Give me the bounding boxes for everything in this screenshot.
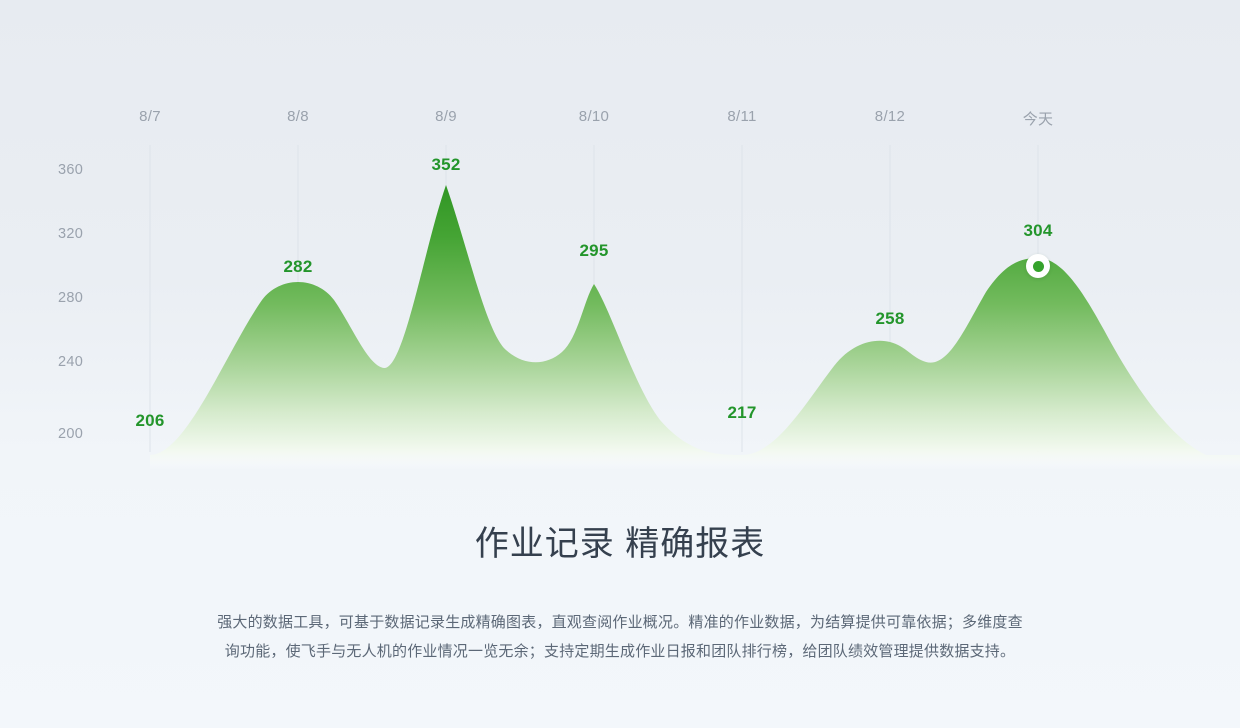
x-axis-label-4: 8/11 (727, 108, 756, 125)
x-axis-label-3: 8/10 (579, 108, 609, 125)
marketing-chart-page: 360 320 280 240 200 8/7 8/8 8/9 8/10 8/1… (0, 0, 1240, 728)
y-axis-tick-360: 360 (58, 162, 86, 178)
chart-canvas (0, 0, 1240, 470)
y-axis-tick-200: 200 (58, 426, 86, 442)
x-axis-label-2: 8/9 (435, 108, 457, 125)
data-label-3: 295 (580, 241, 609, 261)
page-title: 作业记录 精确报表 (0, 470, 1240, 566)
area-series-path (150, 185, 1240, 470)
data-label-4: 217 (728, 403, 757, 423)
y-axis-tick-320: 320 (58, 226, 86, 242)
x-axis-label-today: 今天 (1023, 108, 1054, 129)
y-axis-tick-280: 280 (58, 290, 86, 306)
copy-section: 作业记录 精确报表 强大的数据工具，可基于数据记录生成精确图表，直观查阅作业概况… (0, 470, 1240, 666)
x-axis-label-1: 8/8 (287, 108, 309, 125)
x-axis-label-5: 8/12 (875, 108, 905, 125)
page-description: 强大的数据工具，可基于数据记录生成精确图表，直观查阅作业概况。精准的作业数据，为… (212, 566, 1028, 666)
data-label-2: 352 (432, 155, 461, 175)
x-axis-label-0: 8/7 (139, 108, 161, 125)
area-chart: 360 320 280 240 200 8/7 8/8 8/9 8/10 8/1… (0, 0, 1240, 470)
data-label-1: 282 (284, 257, 313, 277)
y-axis-tick-240: 240 (58, 354, 86, 370)
today-point-marker[interactable] (1026, 254, 1050, 278)
data-label-5: 258 (876, 309, 905, 329)
data-label-today: 304 (1024, 221, 1053, 241)
data-label-0: 206 (136, 411, 165, 431)
